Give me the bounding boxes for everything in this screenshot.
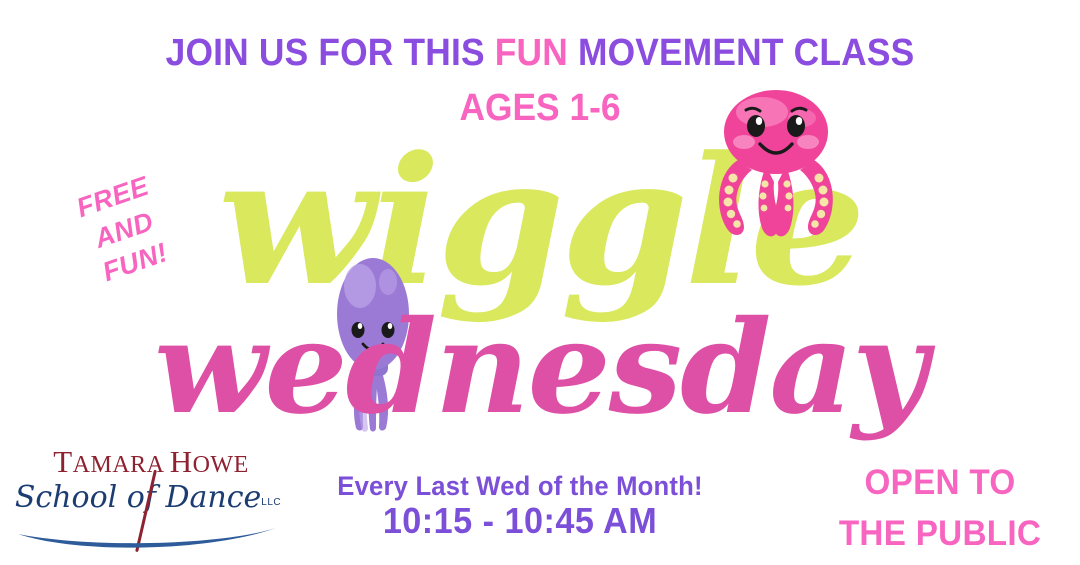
headline-fun-word: FUN	[495, 32, 568, 74]
purple-squid-icon	[318, 252, 430, 432]
logo-script-text: School of Dance	[15, 480, 261, 515]
schedule-frequency: Every Last Wed of the Month!	[302, 472, 739, 500]
schedule-time: 10:15 - 10:45 AM	[302, 500, 739, 542]
open-public-line-1: OPEN TO	[807, 458, 1073, 509]
logo-swoosh-icon	[8, 520, 288, 550]
pink-octopus-icon	[708, 82, 844, 244]
tamara-howe-logo: TAMARA HOWE School of DanceLLC	[8, 446, 288, 554]
logo-t: T	[53, 444, 72, 479]
logo-h: H	[170, 444, 193, 479]
logo-top-line: TAMARA HOWE	[14, 446, 288, 477]
open-public-line-2: THE PUBLIC	[807, 509, 1073, 560]
logo-owe: OWE	[193, 452, 249, 478]
open-to-public-block: OPEN TO THE PUBLIC	[807, 458, 1073, 560]
headline-part1: JOIN US FOR THIS	[166, 32, 495, 74]
title-line-wednesday: wednesday	[0, 304, 1080, 432]
headline: JOIN US FOR THIS FUN MOVEMENT CLASS	[38, 34, 1042, 72]
ages-subtitle: AGES 1-6	[38, 89, 1042, 127]
schedule-block: Every Last Wed of the Month! 10:15 - 10:…	[290, 472, 750, 543]
logo-llc: LLC	[261, 497, 281, 508]
free-and-fun-badge: FREE AND FUN!	[50, 161, 197, 298]
headline-part2: MOVEMENT CLASS	[568, 32, 914, 74]
wiggle-wednesday-flyer: JOIN US FOR THIS FUN MOVEMENT CLASS AGES…	[0, 0, 1080, 565]
